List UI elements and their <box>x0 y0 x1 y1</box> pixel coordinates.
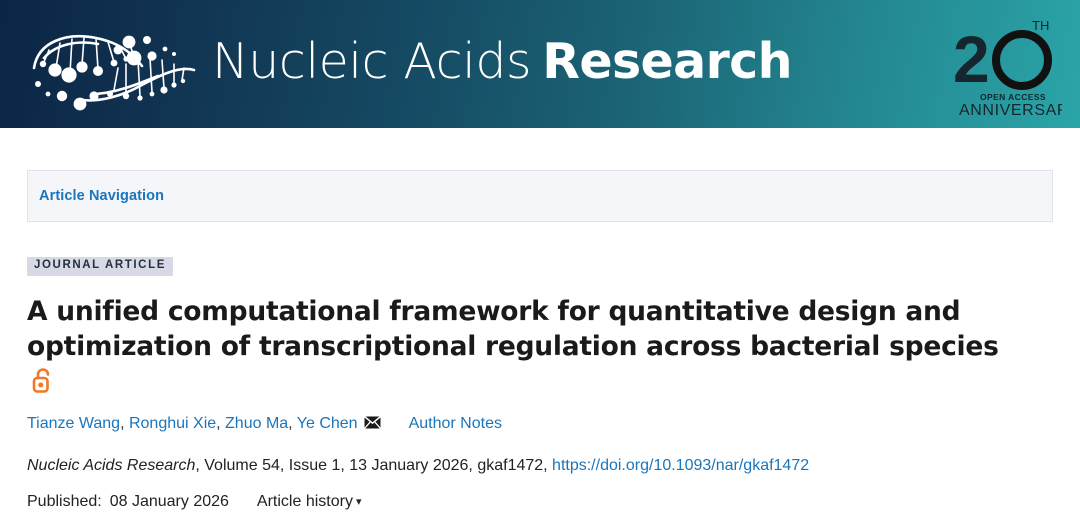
journal-wordmark-light: Nucleic Acids <box>212 33 531 90</box>
citation-journal-name: Nucleic Acids Research <box>27 457 195 474</box>
svg-text:2: 2 <box>953 22 990 96</box>
journal-masthead: Nucleic Acids Research 2 TH OPEN ACCESS … <box>0 0 1080 128</box>
author-separator-3: , <box>288 415 297 432</box>
author-link-2[interactable]: Ronghui Xie <box>129 415 216 432</box>
publication-info-line: Published: 08 January 2026 Article histo… <box>27 490 1057 513</box>
page-title: A unified computational framework for qu… <box>27 294 1017 403</box>
article-navigation-label[interactable]: Article Navigation <box>28 188 164 204</box>
citation-volume-issue-date: , Volume 54, Issue 1, 13 January 2026, g… <box>195 457 552 474</box>
article-history-label: Article history <box>257 493 353 510</box>
open-access-padlock-icon <box>32 367 53 402</box>
citation-line: Nucleic Acids Research, Volume 54, Issue… <box>27 454 1057 477</box>
article-title-text: A unified computational framework for qu… <box>27 296 999 362</box>
dna-helix-network-logo[interactable] <box>22 14 202 114</box>
chevron-down-icon: ▾ <box>356 495 362 511</box>
journal-wordmark[interactable]: Nucleic Acids Research <box>212 26 792 96</box>
anniversary-20th-logo: 2 TH OPEN ACCESS ANNIVERSARY <box>950 8 1062 120</box>
article-navigation-bar[interactable]: Article Navigation <box>27 170 1053 222</box>
author-separator-2: , <box>216 415 225 432</box>
author-separator-1: , <box>120 415 129 432</box>
article-header-block: JOURNAL ARTICLE A unified computational … <box>27 255 1057 513</box>
author-list: Tianze Wang, Ronghui Xie, Zhuo Ma, Ye Ch… <box>27 413 1057 436</box>
author-notes-link[interactable]: Author Notes <box>409 415 502 432</box>
article-history-toggle[interactable]: Article history▾ <box>257 490 362 513</box>
svg-text:TH: TH <box>1032 18 1049 33</box>
doi-link[interactable]: https://doi.org/10.1093/nar/gkaf1472 <box>552 457 809 474</box>
author-link-4[interactable]: Ye Chen <box>297 415 358 432</box>
journal-wordmark-bold: Research <box>542 33 792 90</box>
published-label: Published: <box>27 490 102 513</box>
svg-text:ANNIVERSARY: ANNIVERSARY <box>959 102 1062 119</box>
published-date: 08 January 2026 <box>110 490 229 513</box>
svg-text:OPEN ACCESS: OPEN ACCESS <box>980 92 1046 102</box>
envelope-icon[interactable] <box>364 414 381 436</box>
article-type-badge: JOURNAL ARTICLE <box>27 257 173 276</box>
author-link-3[interactable]: Zhuo Ma <box>225 415 288 432</box>
author-link-1[interactable]: Tianze Wang <box>27 415 120 432</box>
